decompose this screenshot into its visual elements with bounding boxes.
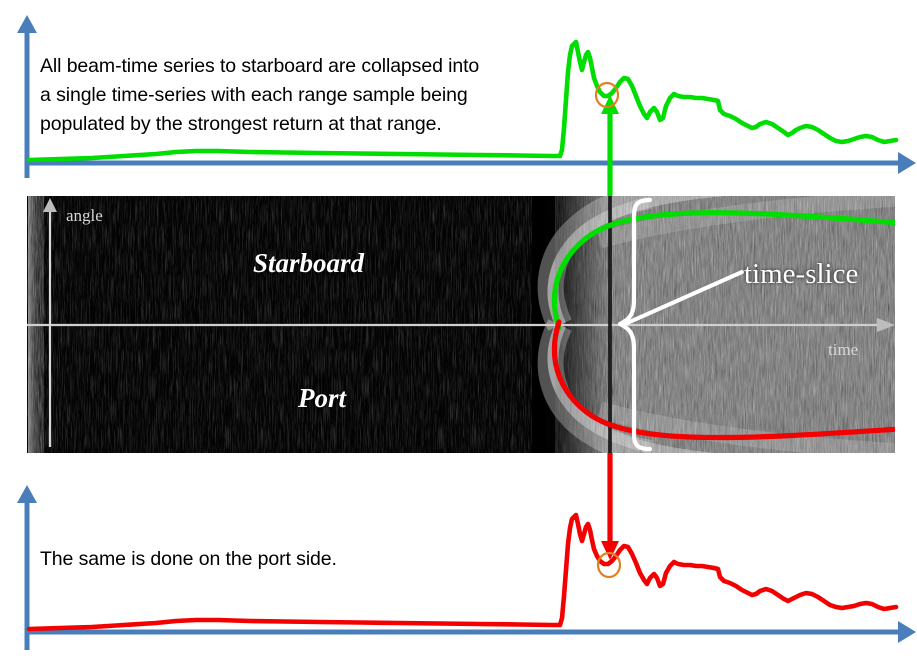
figure-root: All beam-time series to starboard are co… <box>0 0 917 660</box>
top-x-axis-arrowhead <box>898 152 916 174</box>
panel-region-label-port: Port <box>298 383 346 414</box>
sonar-image-panel <box>27 190 905 460</box>
panel-time-axis-label: time <box>828 340 858 360</box>
bottom-plot-caption: The same is done on the port side. <box>40 545 337 574</box>
top-plot-caption: All beam-time series to starboard are co… <box>40 52 479 139</box>
time-slice-annotation-label: time-slice <box>744 258 858 291</box>
panel-region-label-starboard: Starboard <box>253 248 364 279</box>
panel-angle-axis-label: angle <box>66 206 103 226</box>
top-y-axis-arrowhead <box>17 15 37 33</box>
bottom-x-axis-arrowhead <box>898 621 916 643</box>
bottom-y-axis-arrowhead <box>17 485 37 503</box>
